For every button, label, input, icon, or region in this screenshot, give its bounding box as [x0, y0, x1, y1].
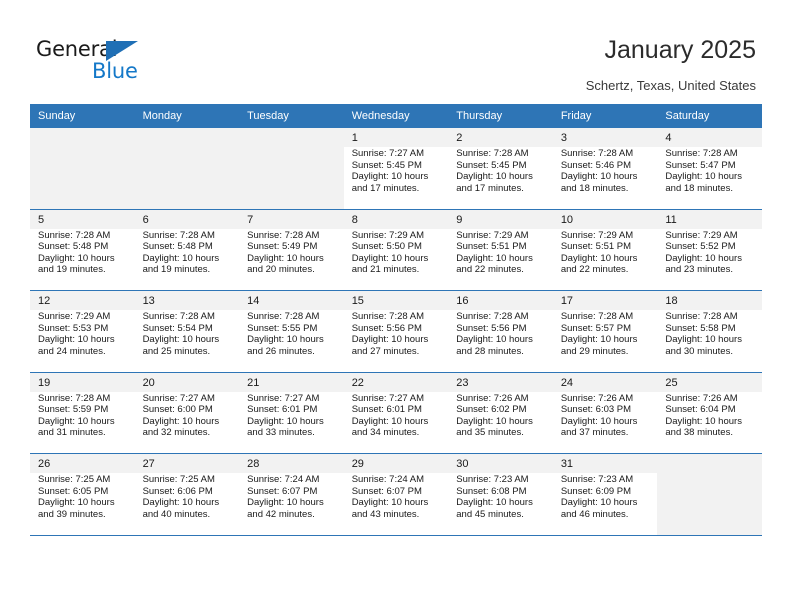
sunrise-text: Sunrise: 7:25 AM [38, 474, 129, 486]
daylight-text: Daylight: 10 hours [456, 334, 547, 346]
sunset-text: Sunset: 5:56 PM [456, 323, 547, 335]
daylight-text-cont: and 42 minutes. [247, 509, 338, 521]
sunset-text: Sunset: 5:47 PM [665, 160, 756, 172]
daylight-info: Sunrise: 7:26 AMSunset: 6:02 PMDaylight:… [456, 393, 547, 439]
day-info-cell[interactable]: Sunrise: 7:28 AMSunset: 5:48 PMDaylight:… [30, 229, 135, 291]
day-number-cell[interactable]: 30 [448, 454, 553, 474]
daylight-text: Daylight: 10 hours [247, 253, 338, 265]
daylight-text: Daylight: 10 hours [38, 416, 129, 428]
day-number: 27 [143, 458, 240, 470]
daylight-text: Daylight: 10 hours [561, 253, 652, 265]
week-date-row: 1234 [30, 128, 762, 147]
daylight-text: Daylight: 10 hours [665, 253, 756, 265]
daylight-info: Sunrise: 7:29 AMSunset: 5:52 PMDaylight:… [665, 230, 756, 276]
day-number: 19 [38, 377, 135, 389]
day-info-cell[interactable]: Sunrise: 7:28 AMSunset: 5:55 PMDaylight:… [239, 310, 344, 372]
day-number: 3 [561, 132, 658, 144]
day-number-cell[interactable]: 1 [344, 128, 449, 147]
daylight-text: Daylight: 10 hours [352, 171, 443, 183]
daylight-info: Sunrise: 7:28 AMSunset: 5:55 PMDaylight:… [247, 311, 338, 357]
daylight-text-cont: and 22 minutes. [456, 264, 547, 276]
day-number-empty [239, 128, 344, 147]
daylight-text-cont: and 43 minutes. [352, 509, 443, 521]
week-info-row: Sunrise: 7:29 AMSunset: 5:53 PMDaylight:… [30, 310, 762, 372]
sunrise-text: Sunrise: 7:28 AM [247, 230, 338, 242]
day-info-cell[interactable]: Sunrise: 7:28 AMSunset: 5:59 PMDaylight:… [30, 392, 135, 454]
sunset-text: Sunset: 5:51 PM [561, 241, 652, 253]
sunset-text: Sunset: 5:58 PM [665, 323, 756, 335]
daylight-info: Sunrise: 7:28 AMSunset: 5:56 PMDaylight:… [352, 311, 443, 357]
day-info-cell[interactable]: Sunrise: 7:26 AMSunset: 6:03 PMDaylight:… [553, 392, 658, 454]
day-info-cell[interactable]: Sunrise: 7:25 AMSunset: 6:06 PMDaylight:… [135, 473, 240, 535]
day-number-cell[interactable]: 19 [30, 372, 135, 392]
day-info-cell[interactable]: Sunrise: 7:28 AMSunset: 5:56 PMDaylight:… [448, 310, 553, 372]
daylight-info: Sunrise: 7:29 AMSunset: 5:50 PMDaylight:… [352, 230, 443, 276]
day-number-cell[interactable]: 28 [239, 454, 344, 474]
day-number-cell[interactable]: 3 [553, 128, 658, 147]
week-info-row: Sunrise: 7:28 AMSunset: 5:59 PMDaylight:… [30, 392, 762, 454]
daylight-info: Sunrise: 7:23 AMSunset: 6:08 PMDaylight:… [456, 474, 547, 520]
sunrise-text: Sunrise: 7:28 AM [665, 311, 756, 323]
sunrise-text: Sunrise: 7:28 AM [561, 148, 652, 160]
sunrise-text: Sunrise: 7:29 AM [665, 230, 756, 242]
sunrise-text: Sunrise: 7:27 AM [352, 148, 443, 160]
day-info-cell[interactable]: Sunrise: 7:27 AMSunset: 6:01 PMDaylight:… [344, 392, 449, 454]
day-number: 10 [561, 214, 658, 226]
sunset-text: Sunset: 6:01 PM [247, 404, 338, 416]
day-number: 29 [352, 458, 449, 470]
daylight-info: Sunrise: 7:25 AMSunset: 6:06 PMDaylight:… [143, 474, 234, 520]
day-number-cell[interactable]: 26 [30, 454, 135, 474]
sunrise-text: Sunrise: 7:28 AM [143, 311, 234, 323]
weekday-header-monday: Monday [135, 104, 240, 128]
day-info-cell[interactable]: Sunrise: 7:28 AMSunset: 5:57 PMDaylight:… [553, 310, 658, 372]
weekday-header-saturday: Saturday [657, 104, 762, 128]
daylight-text-cont: and 23 minutes. [665, 264, 756, 276]
sunrise-text: Sunrise: 7:26 AM [665, 393, 756, 405]
day-info-cell[interactable]: Sunrise: 7:25 AMSunset: 6:05 PMDaylight:… [30, 473, 135, 535]
day-number-cell[interactable]: 9 [448, 209, 553, 229]
sunset-text: Sunset: 5:54 PM [143, 323, 234, 335]
day-number-cell[interactable]: 24 [553, 372, 658, 392]
sunrise-text: Sunrise: 7:27 AM [247, 393, 338, 405]
daylight-info: Sunrise: 7:29 AMSunset: 5:51 PMDaylight:… [456, 230, 547, 276]
daylight-text: Daylight: 10 hours [665, 334, 756, 346]
day-number: 14 [247, 295, 344, 307]
sunset-text: Sunset: 5:56 PM [352, 323, 443, 335]
daylight-info: Sunrise: 7:25 AMSunset: 6:05 PMDaylight:… [38, 474, 129, 520]
week-info-row: Sunrise: 7:25 AMSunset: 6:05 PMDaylight:… [30, 473, 762, 535]
day-number-cell[interactable]: 8 [344, 209, 449, 229]
daylight-text: Daylight: 10 hours [456, 171, 547, 183]
page-subtitle: Schertz, Texas, United States [586, 78, 756, 93]
day-number-empty [30, 128, 135, 147]
day-number: 11 [665, 214, 762, 226]
daylight-text-cont: and 24 minutes. [38, 346, 129, 358]
daylight-info: Sunrise: 7:28 AMSunset: 5:47 PMDaylight:… [665, 148, 756, 194]
day-number-cell[interactable]: 16 [448, 291, 553, 311]
calendar-page: General Blue January 2025 Schertz, Texas… [0, 0, 792, 612]
sunrise-text: Sunrise: 7:25 AM [143, 474, 234, 486]
daylight-text: Daylight: 10 hours [247, 416, 338, 428]
day-number: 20 [143, 377, 240, 389]
day-number: 24 [561, 377, 658, 389]
week-info-row: Sunrise: 7:28 AMSunset: 5:48 PMDaylight:… [30, 229, 762, 291]
week-date-row: 262728293031 [30, 454, 762, 474]
day-number: 17 [561, 295, 658, 307]
daylight-text-cont: and 21 minutes. [352, 264, 443, 276]
day-info-cell[interactable]: Sunrise: 7:28 AMSunset: 5:46 PMDaylight:… [553, 147, 658, 209]
daylight-text: Daylight: 10 hours [38, 334, 129, 346]
day-number: 8 [352, 214, 449, 226]
sunset-text: Sunset: 5:49 PM [247, 241, 338, 253]
week-info-row: Sunrise: 7:27 AMSunset: 5:45 PMDaylight:… [30, 147, 762, 209]
day-number-cell[interactable]: 20 [135, 372, 240, 392]
sunrise-text: Sunrise: 7:24 AM [352, 474, 443, 486]
day-info-cell[interactable]: Sunrise: 7:28 AMSunset: 5:49 PMDaylight:… [239, 229, 344, 291]
day-number: 26 [38, 458, 135, 470]
day-info-cell[interactable]: Sunrise: 7:29 AMSunset: 5:53 PMDaylight:… [30, 310, 135, 372]
daylight-text: Daylight: 10 hours [38, 497, 129, 509]
calendar-header-row: SundayMondayTuesdayWednesdayThursdayFrid… [30, 104, 762, 128]
daylight-info: Sunrise: 7:28 AMSunset: 5:46 PMDaylight:… [561, 148, 652, 194]
day-number-empty [657, 454, 762, 474]
sunset-text: Sunset: 5:55 PM [247, 323, 338, 335]
day-number-cell[interactable]: 5 [30, 209, 135, 229]
daylight-text-cont: and 45 minutes. [456, 509, 547, 521]
brand-name-blue: Blue [92, 58, 138, 84]
daylight-info: Sunrise: 7:29 AMSunset: 5:53 PMDaylight:… [38, 311, 129, 357]
sunrise-text: Sunrise: 7:29 AM [561, 230, 652, 242]
day-number: 30 [456, 458, 553, 470]
daylight-text: Daylight: 10 hours [665, 171, 756, 183]
sunrise-text: Sunrise: 7:23 AM [561, 474, 652, 486]
sunset-text: Sunset: 5:50 PM [352, 241, 443, 253]
day-info-cell[interactable]: Sunrise: 7:28 AMSunset: 5:47 PMDaylight:… [657, 147, 762, 209]
daylight-info: Sunrise: 7:28 AMSunset: 5:45 PMDaylight:… [456, 148, 547, 194]
sunset-text: Sunset: 6:09 PM [561, 486, 652, 498]
sunrise-text: Sunrise: 7:27 AM [143, 393, 234, 405]
daylight-text-cont: and 29 minutes. [561, 346, 652, 358]
sunrise-text: Sunrise: 7:29 AM [38, 311, 129, 323]
day-number: 1 [352, 132, 449, 144]
day-info-cell[interactable]: Sunrise: 7:24 AMSunset: 6:07 PMDaylight:… [239, 473, 344, 535]
week-date-row: 567891011 [30, 209, 762, 229]
daylight-info: Sunrise: 7:28 AMSunset: 5:56 PMDaylight:… [456, 311, 547, 357]
day-info-cell[interactable]: Sunrise: 7:27 AMSunset: 6:00 PMDaylight:… [135, 392, 240, 454]
sunrise-text: Sunrise: 7:28 AM [665, 148, 756, 160]
day-info-empty [135, 147, 240, 209]
day-number: 12 [38, 295, 135, 307]
sunrise-text: Sunrise: 7:28 AM [143, 230, 234, 242]
day-info-cell[interactable]: Sunrise: 7:28 AMSunset: 5:48 PMDaylight:… [135, 229, 240, 291]
weekday-header-friday: Friday [553, 104, 658, 128]
day-number-cell[interactable]: 22 [344, 372, 449, 392]
daylight-text-cont: and 32 minutes. [143, 427, 234, 439]
sunset-text: Sunset: 6:08 PM [456, 486, 547, 498]
calendar-body: 1234Sunrise: 7:27 AMSunset: 5:45 PMDayli… [30, 128, 762, 535]
day-number-cell[interactable]: 7 [239, 209, 344, 229]
sunset-text: Sunset: 5:52 PM [665, 241, 756, 253]
daylight-text: Daylight: 10 hours [561, 416, 652, 428]
daylight-text-cont: and 31 minutes. [38, 427, 129, 439]
day-info-cell[interactable]: Sunrise: 7:27 AMSunset: 5:45 PMDaylight:… [344, 147, 449, 209]
sunrise-text: Sunrise: 7:24 AM [247, 474, 338, 486]
sunrise-sunset-calendar: SundayMondayTuesdayWednesdayThursdayFrid… [30, 104, 762, 536]
sunset-text: Sunset: 5:59 PM [38, 404, 129, 416]
sunrise-text: Sunrise: 7:28 AM [352, 311, 443, 323]
daylight-text: Daylight: 10 hours [561, 497, 652, 509]
sunrise-text: Sunrise: 7:26 AM [561, 393, 652, 405]
day-info-cell[interactable]: Sunrise: 7:29 AMSunset: 5:50 PMDaylight:… [344, 229, 449, 291]
day-number: 7 [247, 214, 344, 226]
day-number: 31 [561, 458, 658, 470]
daylight-text: Daylight: 10 hours [352, 253, 443, 265]
sunset-text: Sunset: 5:57 PM [561, 323, 652, 335]
day-number-cell[interactable]: 2 [448, 128, 553, 147]
sunset-text: Sunset: 5:46 PM [561, 160, 652, 172]
daylight-text: Daylight: 10 hours [456, 497, 547, 509]
daylight-info: Sunrise: 7:28 AMSunset: 5:48 PMDaylight:… [143, 230, 234, 276]
daylight-text-cont: and 37 minutes. [561, 427, 652, 439]
weekday-header-sunday: Sunday [30, 104, 135, 128]
day-number-cell[interactable]: 23 [448, 372, 553, 392]
day-number: 25 [665, 377, 762, 389]
daylight-info: Sunrise: 7:24 AMSunset: 6:07 PMDaylight:… [247, 474, 338, 520]
daylight-text-cont: and 22 minutes. [561, 264, 652, 276]
weekday-header-row: SundayMondayTuesdayWednesdayThursdayFrid… [30, 104, 762, 128]
daylight-text-cont: and 19 minutes. [143, 264, 234, 276]
daylight-text: Daylight: 10 hours [247, 497, 338, 509]
sunset-text: Sunset: 5:48 PM [143, 241, 234, 253]
day-info-empty [239, 147, 344, 209]
daylight-text-cont: and 19 minutes. [38, 264, 129, 276]
day-number: 13 [143, 295, 240, 307]
daylight-text: Daylight: 10 hours [561, 171, 652, 183]
sunset-text: Sunset: 6:04 PM [665, 404, 756, 416]
day-info-cell[interactable]: Sunrise: 7:28 AMSunset: 5:54 PMDaylight:… [135, 310, 240, 372]
daylight-text: Daylight: 10 hours [456, 416, 547, 428]
daylight-text-cont: and 25 minutes. [143, 346, 234, 358]
daylight-text-cont: and 46 minutes. [561, 509, 652, 521]
day-info-cell[interactable]: Sunrise: 7:29 AMSunset: 5:51 PMDaylight:… [553, 229, 658, 291]
daylight-text: Daylight: 10 hours [352, 497, 443, 509]
day-number-cell[interactable]: 27 [135, 454, 240, 474]
sunrise-text: Sunrise: 7:29 AM [456, 230, 547, 242]
day-number-cell[interactable]: 12 [30, 291, 135, 311]
day-info-cell[interactable]: Sunrise: 7:27 AMSunset: 6:01 PMDaylight:… [239, 392, 344, 454]
daylight-info: Sunrise: 7:28 AMSunset: 5:48 PMDaylight:… [38, 230, 129, 276]
sunrise-text: Sunrise: 7:26 AM [456, 393, 547, 405]
day-info-cell[interactable]: Sunrise: 7:29 AMSunset: 5:52 PMDaylight:… [657, 229, 762, 291]
week-date-row: 12131415161718 [30, 291, 762, 311]
daylight-text-cont: and 34 minutes. [352, 427, 443, 439]
daylight-text: Daylight: 10 hours [665, 416, 756, 428]
day-info-cell[interactable]: Sunrise: 7:28 AMSunset: 5:45 PMDaylight:… [448, 147, 553, 209]
daylight-text: Daylight: 10 hours [143, 416, 234, 428]
day-info-cell[interactable]: Sunrise: 7:26 AMSunset: 6:02 PMDaylight:… [448, 392, 553, 454]
daylight-info: Sunrise: 7:24 AMSunset: 6:07 PMDaylight:… [352, 474, 443, 520]
sunset-text: Sunset: 6:07 PM [352, 486, 443, 498]
day-info-cell[interactable]: Sunrise: 7:29 AMSunset: 5:51 PMDaylight:… [448, 229, 553, 291]
daylight-text: Daylight: 10 hours [561, 334, 652, 346]
day-number: 16 [456, 295, 553, 307]
daylight-text-cont: and 18 minutes. [561, 183, 652, 195]
daylight-text-cont: and 33 minutes. [247, 427, 338, 439]
weekday-header-wednesday: Wednesday [344, 104, 449, 128]
daylight-text: Daylight: 10 hours [352, 416, 443, 428]
daylight-text: Daylight: 10 hours [143, 334, 234, 346]
sunset-text: Sunset: 6:02 PM [456, 404, 547, 416]
daylight-text-cont: and 40 minutes. [143, 509, 234, 521]
sunset-text: Sunset: 6:07 PM [247, 486, 338, 498]
day-info-cell[interactable]: Sunrise: 7:28 AMSunset: 5:58 PMDaylight:… [657, 310, 762, 372]
daylight-text-cont: and 28 minutes. [456, 346, 547, 358]
daylight-info: Sunrise: 7:23 AMSunset: 6:09 PMDaylight:… [561, 474, 652, 520]
sunrise-text: Sunrise: 7:28 AM [247, 311, 338, 323]
daylight-info: Sunrise: 7:28 AMSunset: 5:49 PMDaylight:… [247, 230, 338, 276]
day-number-cell[interactable]: 10 [553, 209, 658, 229]
sunrise-text: Sunrise: 7:28 AM [38, 230, 129, 242]
day-number-empty [135, 128, 240, 147]
weekday-header-tuesday: Tuesday [239, 104, 344, 128]
day-number: 5 [38, 214, 135, 226]
daylight-text-cont: and 30 minutes. [665, 346, 756, 358]
sunrise-text: Sunrise: 7:28 AM [561, 311, 652, 323]
day-info-empty [657, 473, 762, 535]
daylight-text-cont: and 18 minutes. [665, 183, 756, 195]
daylight-text: Daylight: 10 hours [352, 334, 443, 346]
daylight-text: Daylight: 10 hours [38, 253, 129, 265]
sunset-text: Sunset: 5:48 PM [38, 241, 129, 253]
daylight-info: Sunrise: 7:26 AMSunset: 6:03 PMDaylight:… [561, 393, 652, 439]
daylight-info: Sunrise: 7:26 AMSunset: 6:04 PMDaylight:… [665, 393, 756, 439]
week-date-row: 19202122232425 [30, 372, 762, 392]
day-number: 28 [247, 458, 344, 470]
day-number: 15 [352, 295, 449, 307]
day-number-cell[interactable]: 4 [657, 128, 762, 147]
daylight-text: Daylight: 10 hours [247, 334, 338, 346]
sunset-text: Sunset: 6:06 PM [143, 486, 234, 498]
day-number-cell[interactable]: 25 [657, 372, 762, 392]
day-number-cell[interactable]: 15 [344, 291, 449, 311]
daylight-text: Daylight: 10 hours [456, 253, 547, 265]
day-number: 18 [665, 295, 762, 307]
sunset-text: Sunset: 5:45 PM [456, 160, 547, 172]
daylight-info: Sunrise: 7:28 AMSunset: 5:58 PMDaylight:… [665, 311, 756, 357]
page-header: General Blue January 2025 Schertz, Texas… [0, 0, 792, 104]
daylight-info: Sunrise: 7:27 AMSunset: 5:45 PMDaylight:… [352, 148, 443, 194]
day-info-empty [30, 147, 135, 209]
day-number-cell[interactable]: 17 [553, 291, 658, 311]
daylight-text-cont: and 17 minutes. [456, 183, 547, 195]
daylight-info: Sunrise: 7:27 AMSunset: 6:00 PMDaylight:… [143, 393, 234, 439]
day-number: 9 [456, 214, 553, 226]
sunset-text: Sunset: 5:45 PM [352, 160, 443, 172]
daylight-info: Sunrise: 7:29 AMSunset: 5:51 PMDaylight:… [561, 230, 652, 276]
sunset-text: Sunset: 6:03 PM [561, 404, 652, 416]
day-number-cell[interactable]: 18 [657, 291, 762, 311]
daylight-text: Daylight: 10 hours [143, 253, 234, 265]
sunset-text: Sunset: 6:00 PM [143, 404, 234, 416]
sunset-text: Sunset: 5:51 PM [456, 241, 547, 253]
weekday-header-thursday: Thursday [448, 104, 553, 128]
day-number-cell[interactable]: 14 [239, 291, 344, 311]
brand-logo[interactable]: General Blue [36, 36, 156, 84]
sunrise-text: Sunrise: 7:27 AM [352, 393, 443, 405]
day-number-cell[interactable]: 31 [553, 454, 658, 474]
daylight-text-cont: and 17 minutes. [352, 183, 443, 195]
daylight-text-cont: and 38 minutes. [665, 427, 756, 439]
day-number-cell[interactable]: 11 [657, 209, 762, 229]
sunset-text: Sunset: 6:05 PM [38, 486, 129, 498]
sunrise-text: Sunrise: 7:29 AM [352, 230, 443, 242]
day-number: 2 [456, 132, 553, 144]
daylight-text-cont: and 39 minutes. [38, 509, 129, 521]
day-number: 6 [143, 214, 240, 226]
day-number: 23 [456, 377, 553, 389]
day-number-cell[interactable]: 21 [239, 372, 344, 392]
day-info-cell[interactable]: Sunrise: 7:28 AMSunset: 5:56 PMDaylight:… [344, 310, 449, 372]
day-info-cell[interactable]: Sunrise: 7:23 AMSunset: 6:09 PMDaylight:… [553, 473, 658, 535]
daylight-text-cont: and 26 minutes. [247, 346, 338, 358]
day-number: 21 [247, 377, 344, 389]
sunrise-text: Sunrise: 7:28 AM [456, 148, 547, 160]
day-number: 22 [352, 377, 449, 389]
daylight-info: Sunrise: 7:28 AMSunset: 5:57 PMDaylight:… [561, 311, 652, 357]
day-number-cell[interactable]: 6 [135, 209, 240, 229]
day-number-cell[interactable]: 13 [135, 291, 240, 311]
daylight-info: Sunrise: 7:27 AMSunset: 6:01 PMDaylight:… [247, 393, 338, 439]
day-info-cell[interactable]: Sunrise: 7:23 AMSunset: 6:08 PMDaylight:… [448, 473, 553, 535]
sunrise-text: Sunrise: 7:28 AM [38, 393, 129, 405]
sunset-text: Sunset: 5:53 PM [38, 323, 129, 335]
day-number-cell[interactable]: 29 [344, 454, 449, 474]
daylight-info: Sunrise: 7:27 AMSunset: 6:01 PMDaylight:… [352, 393, 443, 439]
daylight-text-cont: and 27 minutes. [352, 346, 443, 358]
sunrise-text: Sunrise: 7:28 AM [456, 311, 547, 323]
sunrise-text: Sunrise: 7:23 AM [456, 474, 547, 486]
daylight-text-cont: and 35 minutes. [456, 427, 547, 439]
day-info-cell[interactable]: Sunrise: 7:24 AMSunset: 6:07 PMDaylight:… [344, 473, 449, 535]
day-number: 4 [665, 132, 762, 144]
day-info-cell[interactable]: Sunrise: 7:26 AMSunset: 6:04 PMDaylight:… [657, 392, 762, 454]
sunset-text: Sunset: 6:01 PM [352, 404, 443, 416]
page-title: January 2025 [604, 36, 756, 65]
daylight-text-cont: and 20 minutes. [247, 264, 338, 276]
daylight-text: Daylight: 10 hours [143, 497, 234, 509]
daylight-info: Sunrise: 7:28 AMSunset: 5:54 PMDaylight:… [143, 311, 234, 357]
daylight-info: Sunrise: 7:28 AMSunset: 5:59 PMDaylight:… [38, 393, 129, 439]
